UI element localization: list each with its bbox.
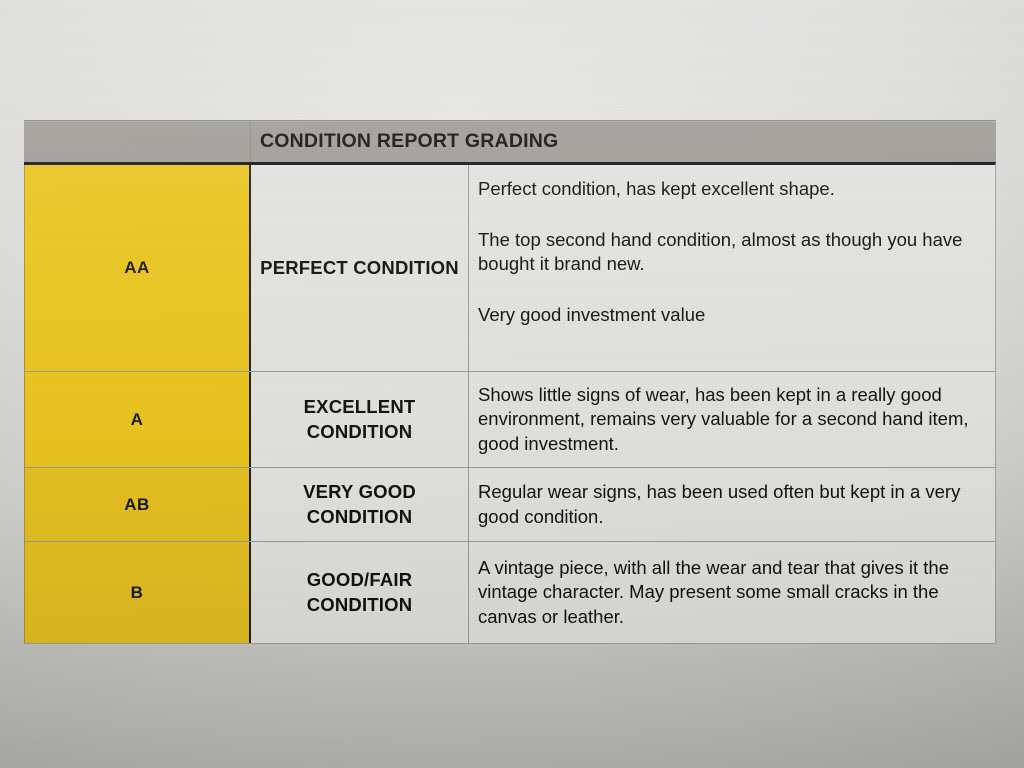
page-title: CONDITION REPORT GRADING — [260, 130, 558, 153]
condition-name-cell-ab: VERY GOOD CONDITION — [251, 468, 469, 541]
condition-name-label: VERY GOOD CONDITION — [257, 480, 462, 529]
table-row: AA PERFECT CONDITION Perfect condition, … — [24, 165, 995, 372]
table-title-cell: CONDITION REPORT GRADING — [251, 121, 996, 162]
description-paragraph: Shows little signs of wear, has been kep… — [478, 383, 985, 457]
condition-name-label: GOOD/FAIR CONDITION — [257, 568, 462, 617]
grade-cell-ab: AB — [24, 468, 251, 541]
table-header-corner-cell — [24, 121, 251, 162]
description-cell-b: A vintage piece, with all the wear and t… — [469, 542, 995, 643]
description-cell-a: Shows little signs of wear, has been kep… — [469, 372, 995, 467]
description-cell-aa: Perfect condition, has kept excellent sh… — [469, 165, 995, 371]
grade-label: B — [131, 583, 144, 603]
document-page: CONDITION REPORT GRADING AA PERFECT COND… — [0, 0, 1024, 768]
description-paragraph: Very good investment value — [478, 303, 985, 328]
grade-label: A — [131, 410, 144, 430]
table-header-band: CONDITION REPORT GRADING — [24, 120, 996, 162]
grade-cell-aa: AA — [24, 165, 251, 371]
grade-label: AB — [124, 495, 150, 515]
condition-name-cell-aa: PERFECT CONDITION — [251, 165, 469, 371]
table-row: B GOOD/FAIR CONDITION A vintage piece, w… — [24, 542, 995, 643]
condition-report-grading-table: CONDITION REPORT GRADING AA PERFECT COND… — [24, 120, 996, 644]
description-paragraph: Regular wear signs, has been used often … — [478, 480, 985, 529]
description-paragraph: The top second hand condition, almost as… — [478, 228, 985, 277]
table-row: AB VERY GOOD CONDITION Regular wear sign… — [24, 468, 995, 542]
description-cell-ab: Regular wear signs, has been used often … — [469, 468, 995, 541]
condition-name-cell-b: GOOD/FAIR CONDITION — [251, 542, 469, 643]
grade-label: AA — [124, 258, 150, 278]
description-paragraph: Perfect condition, has kept excellent sh… — [478, 177, 985, 202]
table-body: AA PERFECT CONDITION Perfect condition, … — [24, 162, 996, 644]
grade-cell-b: B — [24, 542, 251, 643]
grade-cell-a: A — [24, 372, 251, 467]
table-row: A EXCELLENT CONDITION Shows little signs… — [24, 372, 995, 468]
condition-name-label: EXCELLENT CONDITION — [257, 395, 462, 444]
description-paragraph: A vintage piece, with all the wear and t… — [478, 556, 985, 630]
condition-name-label: PERFECT CONDITION — [260, 256, 459, 280]
condition-name-cell-a: EXCELLENT CONDITION — [251, 372, 469, 467]
